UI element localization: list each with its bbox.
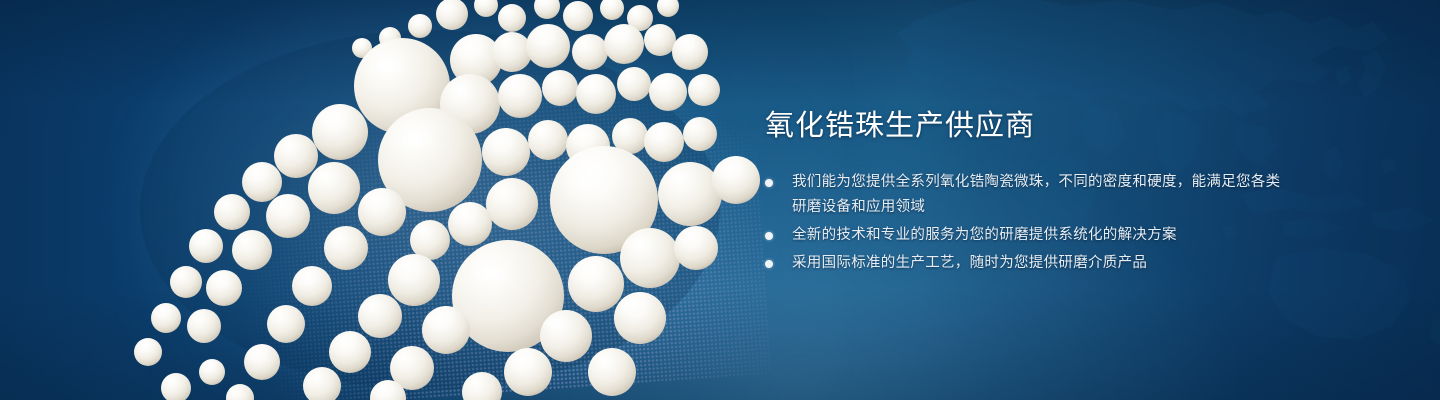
bullet-dot-icon (765, 179, 773, 187)
list-item-text: 采用国际标准的生产工艺，随时为您提供研磨介质产品 (792, 255, 1147, 271)
list-item-text: 全新的技术和专业的服务为您的研磨提供系统化的解决方案 (792, 227, 1177, 243)
page-title: 氧化锆珠生产供应商 (765, 108, 1285, 144)
hero-banner: 氧化锆珠生产供应商 我们能为您提供全系列氧化锆陶瓷微珠，不同的密度和硬度，能满足… (0, 0, 1440, 400)
banner-copy: 氧化锆珠生产供应商 我们能为您提供全系列氧化锆陶瓷微珠，不同的密度和硬度，能满足… (765, 108, 1285, 279)
bullet-dot-icon (765, 260, 773, 268)
feature-list: 我们能为您提供全系列氧化锆陶瓷微珠，不同的密度和硬度，能满足您各类研磨设备和应用… (765, 170, 1285, 276)
bullet-dot-icon (765, 232, 773, 240)
list-item: 全新的技术和专业的服务为您的研磨提供系统化的解决方案 (765, 223, 1285, 248)
list-item-text: 我们能为您提供全系列氧化锆陶瓷微珠，不同的密度和硬度，能满足您各类研磨设备和应用… (792, 174, 1280, 215)
list-item: 采用国际标准的生产工艺，随时为您提供研磨介质产品 (765, 251, 1285, 276)
list-item: 我们能为您提供全系列氧化锆陶瓷微珠，不同的密度和硬度，能满足您各类研磨设备和应用… (765, 170, 1285, 220)
zirconia-beads-image (0, 0, 760, 400)
